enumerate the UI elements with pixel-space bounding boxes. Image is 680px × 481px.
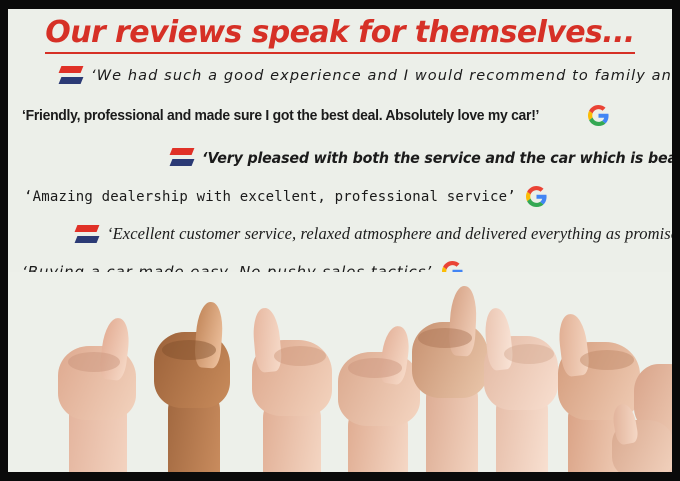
review-poster: Our reviews speak for themselves... ‘We … — [8, 9, 672, 472]
review-item-5: ‘Excellent customer service, relaxed atm… — [76, 224, 672, 244]
thumbs-up-hand — [148, 300, 240, 472]
review-item-4: ‘Amazing dealership with excellent, prof… — [24, 186, 547, 207]
autotrader-stripes-icon — [171, 148, 193, 167]
review-item-1: ‘We had such a good experience and I wou… — [60, 66, 672, 85]
autotrader-stripes-icon — [60, 66, 82, 85]
page-title: Our reviews speak for themselves... — [45, 17, 634, 54]
thumbs-up-hand — [50, 326, 146, 472]
page-title-container: Our reviews speak for themselves... — [8, 17, 672, 54]
review-text-5: ‘Excellent customer service, relaxed atm… — [107, 224, 672, 244]
google-g-icon — [588, 105, 609, 126]
review-item-2: ‘Friendly, professional and made sure I … — [22, 105, 609, 126]
review-item-3: ‘Very pleased with both the service and … — [171, 148, 672, 167]
thumbs-up-hand — [244, 316, 340, 472]
thumbs-up-hand — [608, 406, 672, 472]
review-text-1: ‘We had such a good experience and I wou… — [91, 68, 672, 84]
review-text-3: ‘Very pleased with both the service and … — [202, 149, 672, 167]
autotrader-stripes-icon — [76, 225, 98, 244]
review-text-4: ‘Amazing dealership with excellent, prof… — [24, 189, 516, 205]
thumbs-up-photo — [8, 272, 672, 472]
review-text-2: ‘Friendly, professional and made sure I … — [22, 107, 539, 124]
google-g-icon — [526, 186, 547, 207]
